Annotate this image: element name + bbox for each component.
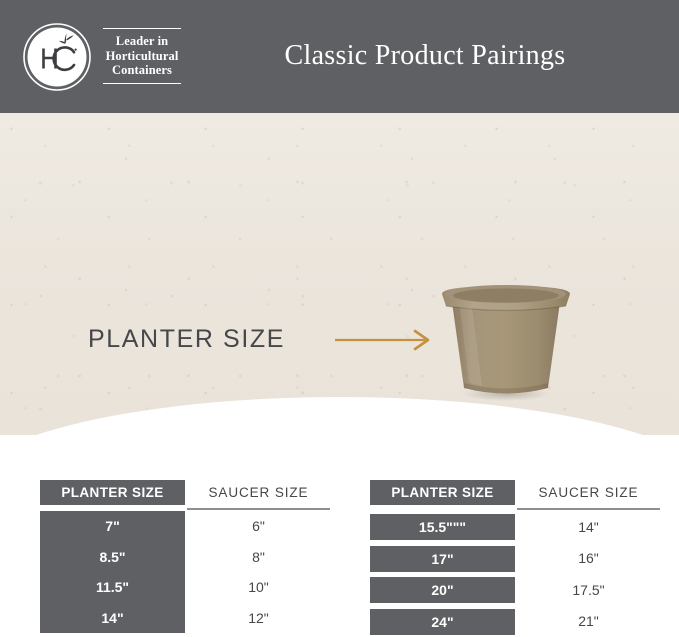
cell-planter-size: 14"	[40, 603, 185, 634]
table-row: 24" 21"	[370, 606, 660, 637]
saucer-header-underline	[187, 508, 330, 510]
saucer-dish-illustration	[438, 413, 574, 435]
cell-planter-size: 8.5"	[40, 542, 185, 573]
table-row: 15.5""" 14"	[370, 511, 660, 543]
tagline-line-3: Containers	[100, 63, 184, 78]
column-header-planter-size: PLANTER SIZE	[40, 480, 185, 505]
planter-pot-illustration	[436, 278, 576, 408]
paper-texture	[0, 113, 679, 435]
cell-saucer-size: 12"	[187, 603, 330, 634]
brand-tagline: Leader in Horticultural Containers	[100, 28, 184, 84]
tagline-rule-top	[103, 28, 181, 29]
cell-planter-size: 17"	[370, 546, 515, 572]
cell-saucer-size: 21"	[517, 606, 660, 637]
cell-planter-size: 20"	[370, 577, 515, 603]
hero-saucer-size-label: SAUCER SIZE	[101, 423, 285, 435]
cell-saucer-size: 6"	[187, 511, 330, 542]
table-row: 14" 12"	[40, 603, 330, 634]
table-row: 7" 6"	[40, 511, 330, 542]
tagline-rule-bottom	[103, 83, 181, 84]
cell-planter-size: 7"	[40, 511, 185, 542]
table-row: 11.5" 10"	[40, 572, 330, 603]
page-title: Classic Product Pairings	[190, 40, 660, 72]
arrow-right-icon	[333, 329, 433, 356]
size-table-large: PLANTER SIZE SAUCER SIZE 15.5""" 14" 17"…	[370, 480, 660, 637]
cell-saucer-size: 16"	[517, 543, 660, 575]
cell-saucer-size: 14"	[517, 511, 660, 543]
arrow-right-icon	[347, 427, 435, 435]
cell-saucer-size: 8"	[187, 542, 330, 573]
cell-planter-size: 24"	[370, 609, 515, 635]
column-header-planter-size: PLANTER SIZE	[370, 480, 515, 505]
table-row: 8.5" 8"	[40, 542, 330, 573]
cell-planter-size: 15.5"""	[370, 514, 515, 540]
hc-circle-logo	[22, 22, 92, 92]
hero-planter-size-label: PLANTER SIZE	[88, 325, 285, 354]
tagline-line-2: Horticultural	[100, 49, 184, 64]
table-row: 20" 17.5"	[370, 574, 660, 606]
table-body: 7" 6" 8.5" 8" 11.5" 10" 14" 12"	[40, 511, 330, 633]
table-row: 17" 16"	[370, 543, 660, 575]
header-bar: Leader in Horticultural Containers Class…	[0, 0, 679, 113]
cell-saucer-size: 17.5"	[517, 574, 660, 606]
hero-panel: PLANTER SIZE SAUCER SIZE	[0, 113, 679, 435]
cell-planter-size: 11.5"	[40, 572, 185, 603]
size-table-small: PLANTER SIZE SAUCER SIZE 7" 6" 8.5" 8" 1…	[40, 480, 330, 633]
table-header-row: PLANTER SIZE SAUCER SIZE	[40, 480, 330, 511]
column-header-saucer-size: SAUCER SIZE	[187, 480, 330, 505]
table-body: 15.5""" 14" 17" 16" 20" 17.5" 24" 21"	[370, 511, 660, 637]
tagline-line-1: Leader in	[100, 34, 184, 49]
table-header-row: PLANTER SIZE SAUCER SIZE	[370, 480, 660, 511]
column-header-saucer-size: SAUCER SIZE	[517, 480, 660, 505]
cell-saucer-size: 10"	[187, 572, 330, 603]
saucer-header-underline	[517, 508, 660, 510]
